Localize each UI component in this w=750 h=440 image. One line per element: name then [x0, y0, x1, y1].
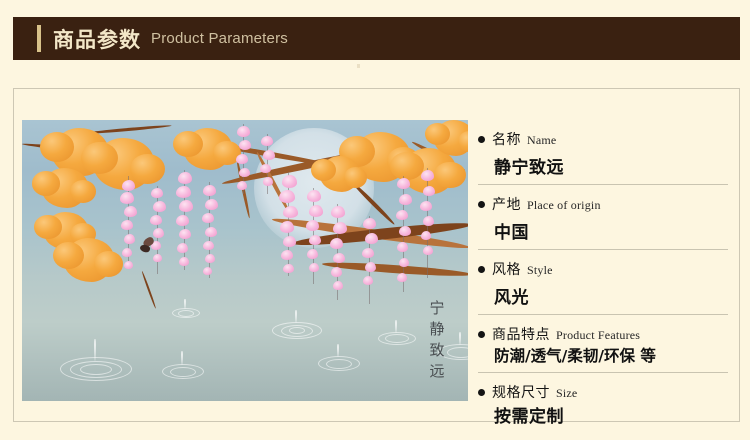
bullet-icon: [478, 266, 485, 273]
param-value: 中国: [494, 218, 728, 243]
artwork-vertical-text: 宁 静 致 远: [428, 298, 446, 382]
param-label-cn: 风格: [492, 259, 521, 279]
param-label-en: Size: [556, 386, 577, 401]
param-value: 防潮/透气/柔韧/环保 等: [494, 344, 728, 366]
param-label-en: Style: [527, 263, 553, 278]
param-label-en: Name: [527, 133, 556, 148]
param-value: 静宁致远: [494, 153, 728, 178]
product-parameters-list: 名称 Name 静宁致远 产地 Place of origin 中国 风格 St…: [478, 120, 728, 433]
param-label: 名称 Name: [478, 129, 728, 149]
param-value: 风光: [494, 283, 728, 308]
param-label-cn: 产地: [492, 194, 521, 214]
vertical-char: 宁: [428, 298, 446, 319]
maple-leaf: [184, 128, 232, 170]
header-accent-bar: [37, 25, 41, 52]
param-row-style: 风格 Style 风光: [478, 249, 728, 314]
bullet-icon: [478, 389, 485, 396]
butterfly: [140, 237, 156, 255]
param-label: 商品特点 Product Features: [478, 324, 728, 344]
vertical-char: 远: [428, 361, 446, 382]
product-artwork-image: 宁 静 致 远: [22, 120, 468, 401]
decorative-speck: [357, 64, 360, 68]
param-label-en: Product Features: [556, 328, 640, 343]
bullet-icon: [478, 201, 485, 208]
param-label: 风格 Style: [478, 259, 728, 279]
section-header-bar: 商品参数 Product Parameters: [13, 17, 740, 60]
param-label-cn: 名称: [492, 129, 521, 149]
maple-leaf: [64, 238, 114, 282]
param-label-cn: 商品特点: [492, 324, 550, 344]
bullet-icon: [478, 331, 485, 338]
maple-leaf: [320, 156, 360, 192]
param-row-place-of-origin: 产地 Place of origin 中国: [478, 184, 728, 249]
param-row-size: 规格尺寸 Size 按需定制: [478, 372, 728, 433]
vertical-char: 静: [428, 319, 446, 340]
branch: [141, 271, 157, 309]
section-title-cn: 商品参数: [53, 24, 141, 54]
branch: [322, 260, 468, 278]
param-row-name: 名称 Name 静宁致远: [478, 120, 728, 184]
param-label-en: Place of origin: [527, 198, 601, 213]
vertical-char: 致: [428, 340, 446, 361]
maple-leaf: [42, 168, 88, 208]
bullet-icon: [478, 136, 485, 143]
maple-leaf: [434, 120, 468, 156]
param-label: 规格尺寸 Size: [478, 382, 728, 402]
param-value: 按需定制: [494, 402, 728, 427]
param-label-cn: 规格尺寸: [492, 382, 550, 402]
section-title-en: Product Parameters: [151, 30, 288, 47]
param-row-product-features: 商品特点 Product Features 防潮/透气/柔韧/环保 等: [478, 314, 728, 372]
param-label: 产地 Place of origin: [478, 194, 728, 214]
